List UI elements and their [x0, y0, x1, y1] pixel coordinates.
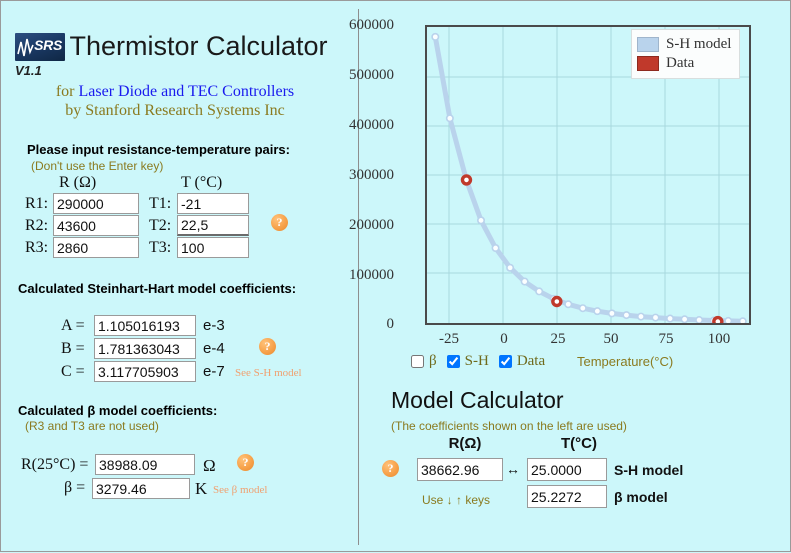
checkbox-beta[interactable] [411, 355, 424, 368]
ytick-200000: 200000 [349, 217, 394, 234]
help-icon-beta[interactable]: ? [237, 454, 254, 471]
help-icon-model-calculator[interactable]: ? [382, 460, 399, 477]
sh-model-point [623, 312, 629, 318]
legend-item-data: Data [637, 55, 731, 72]
sh-model-point [507, 265, 513, 271]
thermistor-chart: 600000 500000 400000 300000 200000 10000… [359, 1, 791, 381]
page-title: Thermistor Calculator [69, 31, 327, 61]
left-panel: SRS Thermistor Calculator V1.1 for Laser… [1, 1, 358, 553]
srs-logo-text: SRS [34, 37, 62, 53]
app-version: V1.1 [15, 63, 42, 78]
ytick-100000: 100000 [349, 267, 394, 284]
input-beta[interactable] [92, 478, 190, 499]
hint-use-keys: Use ↓ ↑ keys [422, 493, 490, 507]
xtick-50: 50 [589, 331, 633, 348]
inputs-heading: Please input resistance-temperature pair… [27, 142, 290, 157]
input-model-temp-beta[interactable] [527, 485, 607, 508]
input-r25[interactable] [95, 454, 195, 475]
sh-model-point [667, 315, 673, 321]
label-r3: R3: [25, 239, 48, 257]
xtick-0: 0 [482, 331, 526, 348]
label-coeff-b: B = [61, 340, 85, 358]
sh-model-point [638, 313, 644, 319]
label-sh-model: S-H model [614, 462, 683, 478]
label-t2: T2: [149, 217, 171, 235]
series-data-points [462, 176, 721, 323]
unit-kelvin: K [195, 479, 207, 499]
unit-ohm: Ω [203, 456, 216, 476]
legend-item-sh: S-H model [637, 36, 731, 53]
app-window: SRS Thermistor Calculator V1.1 for Laser… [0, 0, 791, 552]
ytick-300000: 300000 [349, 167, 394, 184]
input-t1[interactable] [177, 193, 249, 214]
label-coeff-a: A = [61, 317, 85, 335]
subtitle-company: by Stanford Research Systems Inc [15, 102, 335, 120]
sh-model-point [536, 288, 542, 294]
beta-heading: Calculated β model coefficients: [18, 403, 217, 418]
input-t3[interactable] [177, 237, 249, 258]
xtick-100: 100 [697, 331, 741, 348]
sh-model-point [594, 308, 600, 314]
model-calculator-note: (The coefficients shown on the left are … [391, 419, 627, 433]
link-see-beta-model[interactable]: See β model [213, 484, 267, 496]
ytick-400000: 400000 [349, 117, 394, 134]
xtick-25: 25 [536, 331, 580, 348]
legend-swatch-sh-icon [637, 37, 659, 52]
sh-heading: Calculated Steinhart-Hart model coeffici… [18, 281, 296, 296]
column-header-temperature: T (°C) [181, 174, 222, 192]
sh-model-point [652, 314, 658, 320]
checkbox-data[interactable] [499, 355, 512, 368]
data-point [462, 176, 470, 184]
sh-model-point [492, 245, 498, 251]
checkbox-label-sh[interactable]: S-H [465, 353, 489, 370]
right-panel: 600000 500000 400000 300000 200000 10000… [359, 1, 791, 553]
beta-note: (R3 and T3 are not used) [25, 419, 159, 433]
help-icon-inputs[interactable]: ? [271, 214, 288, 231]
input-coeff-b[interactable] [94, 338, 196, 359]
exp-coeff-a: e-3 [203, 317, 225, 334]
exp-coeff-b: e-4 [203, 340, 225, 357]
series-sh-model-line [435, 37, 743, 321]
column-header-resistance: R (Ω) [59, 174, 96, 192]
input-coeff-c[interactable] [94, 361, 196, 382]
srs-logo-icon: SRS [15, 33, 65, 61]
exp-coeff-c: e-7 [203, 363, 225, 380]
input-model-temp-sh[interactable] [527, 458, 607, 481]
sh-model-point [740, 318, 746, 323]
model-calculator-title: Model Calculator [391, 387, 564, 414]
checkbox-sh[interactable] [447, 355, 460, 368]
input-r3[interactable] [53, 237, 139, 258]
label-t1: T1: [149, 195, 171, 213]
ytick-500000: 500000 [349, 67, 394, 84]
label-r2: R2: [25, 217, 48, 235]
sh-model-point [521, 278, 527, 284]
sh-model-point [725, 318, 731, 323]
label-beta-model: β model [614, 489, 668, 505]
legend-label-sh: S-H model [666, 36, 731, 53]
checkbox-label-data[interactable]: Data [517, 353, 545, 370]
input-t2[interactable] [177, 215, 249, 236]
input-r1[interactable] [53, 193, 139, 214]
sh-model-point [565, 301, 571, 307]
checkbox-label-beta[interactable]: β [429, 353, 437, 370]
mc-column-header-r: R(Ω) [405, 435, 525, 452]
sh-model-point [609, 310, 615, 316]
ytick-600000: 600000 [349, 17, 394, 34]
subtitle-products: for Laser Diode and TEC Controllers [15, 83, 335, 101]
legend-label-data: Data [666, 55, 694, 72]
chart-legend: S-H model Data [631, 29, 740, 79]
help-icon-sh[interactable]: ? [259, 338, 276, 355]
mc-column-header-t: T(°C) [519, 435, 639, 452]
sh-model-point [580, 305, 586, 311]
sh-model-point [696, 317, 702, 323]
input-model-resistance[interactable] [417, 458, 503, 481]
label-beta: β = [64, 479, 85, 497]
data-point [553, 297, 561, 305]
inputs-note: (Don't use the Enter key) [31, 159, 163, 173]
legend-swatch-data-icon [637, 56, 659, 71]
sh-model-point [478, 217, 484, 223]
data-point [714, 318, 722, 323]
sh-model-point [681, 316, 687, 322]
sh-model-point [432, 34, 438, 40]
xtick-75: 75 [644, 331, 688, 348]
input-r2[interactable] [53, 215, 139, 236]
label-coeff-c: C = [61, 363, 85, 381]
subtitle-for: for [56, 83, 79, 100]
input-coeff-a[interactable] [94, 315, 196, 336]
app-header: SRS Thermistor Calculator V1.1 for Laser… [15, 31, 345, 120]
xtick--25: -25 [427, 331, 471, 348]
ytick-0: 0 [387, 316, 395, 333]
label-t3: T3: [149, 239, 171, 257]
link-see-sh-model[interactable]: See S-H model [235, 367, 302, 379]
label-r1: R1: [25, 195, 48, 213]
bidirectional-arrow-icon: ↔ [506, 461, 520, 477]
label-r25: R(25°C) = [21, 456, 88, 474]
subtitle-link[interactable]: Laser Diode and TEC Controllers [79, 83, 295, 100]
xaxis-title: Temperature(°C) [577, 354, 673, 369]
sh-model-point [447, 115, 453, 121]
chart-series-toggles: β S-H Data [411, 353, 551, 370]
